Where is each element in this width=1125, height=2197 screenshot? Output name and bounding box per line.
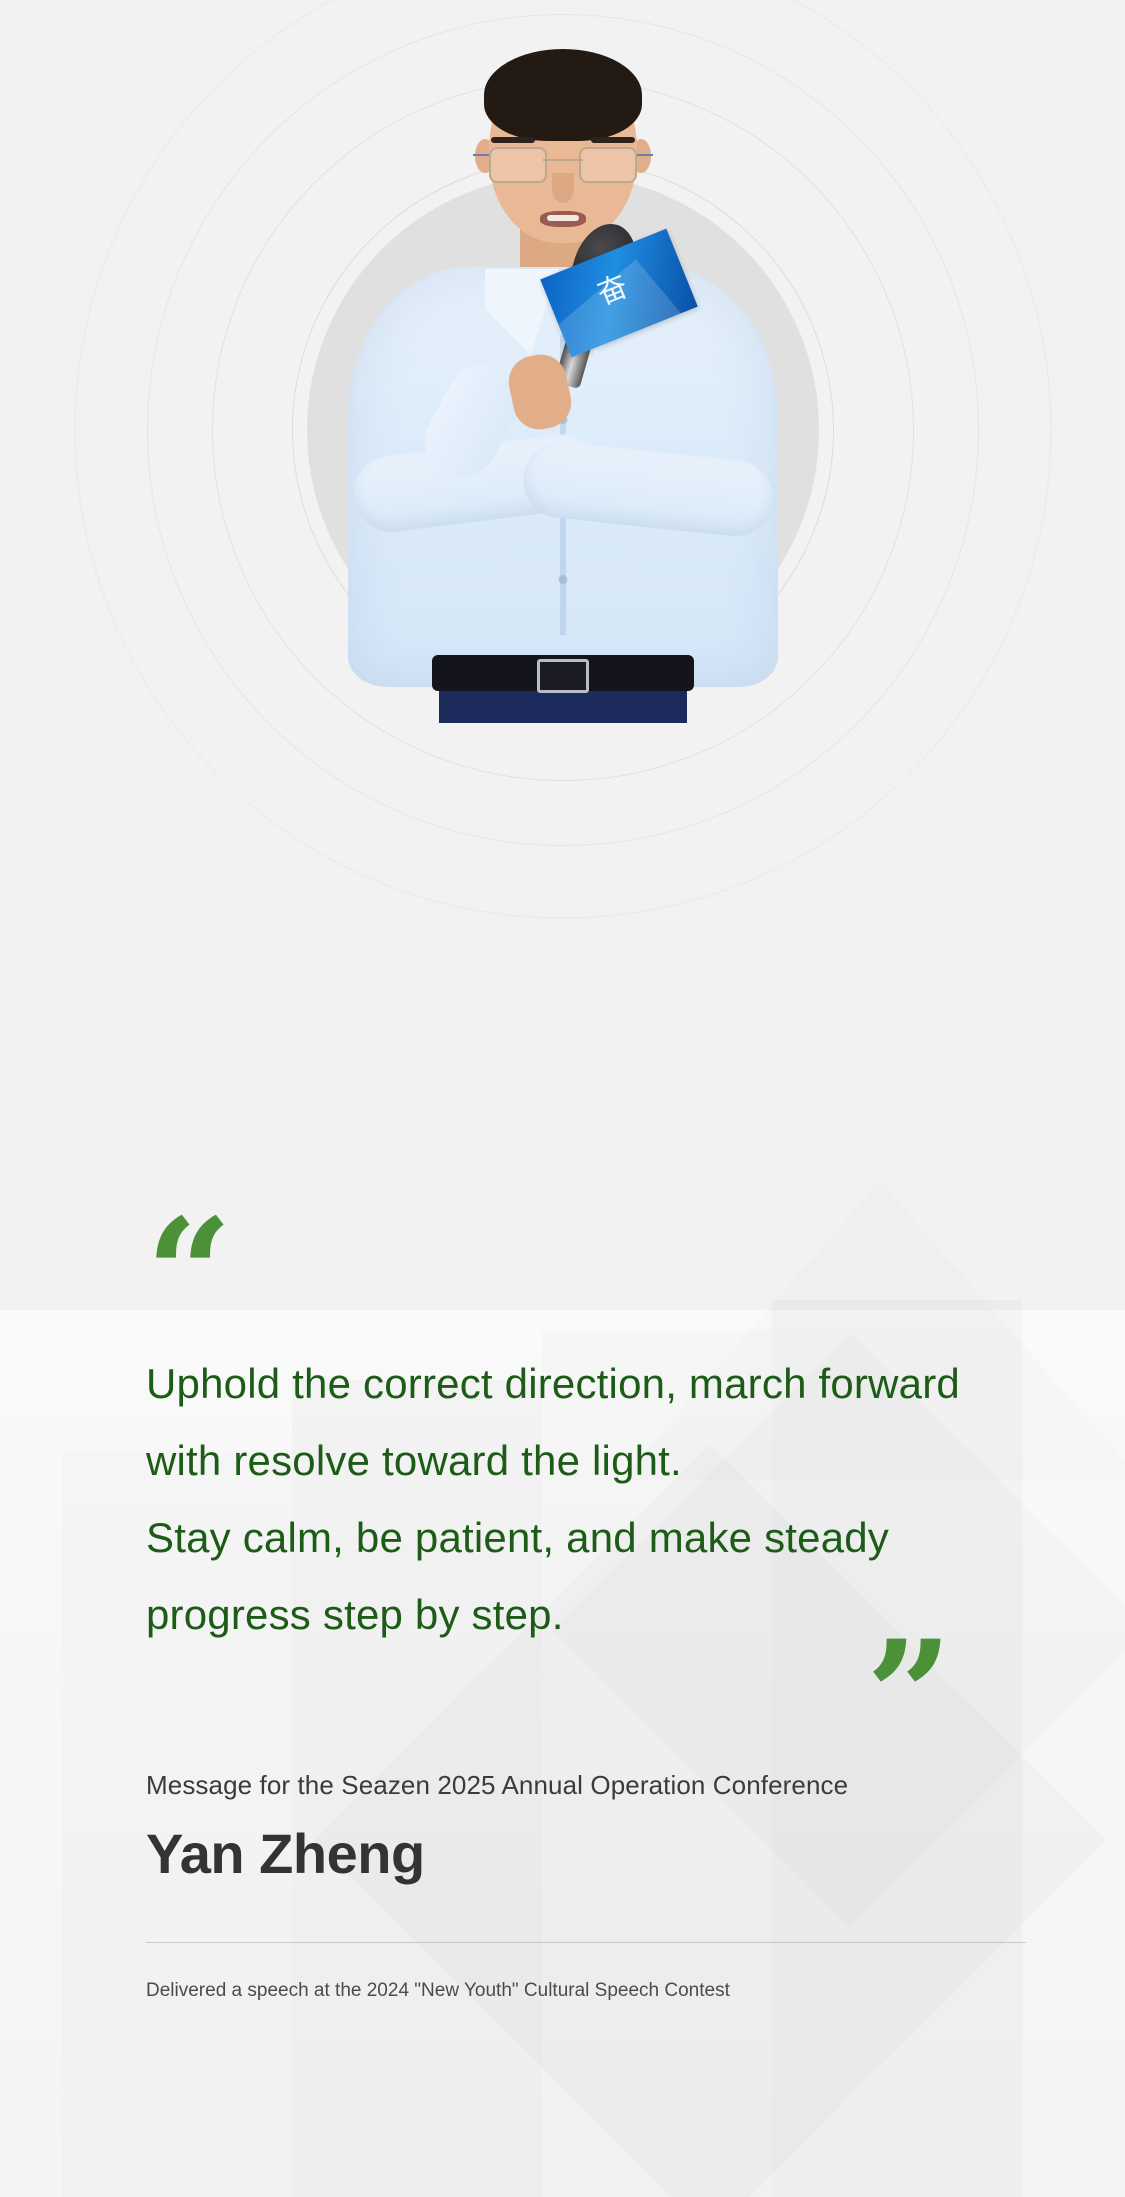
hair: [484, 49, 642, 141]
mouth: [540, 211, 586, 227]
quote-line: Stay calm, be patient, and make steady: [146, 1499, 1006, 1576]
quote-text: Uphold the correct direction, march forw…: [146, 1345, 1006, 1653]
attribution-role: Message for the Seazen 2025 Annual Opera…: [146, 1768, 1036, 1802]
portrait-person: 奋: [348, 55, 778, 695]
poster-page: 奋 “ Uphold the correct direction, march …: [0, 0, 1125, 2197]
glasses-temple-right: [637, 154, 653, 156]
attribution-name: Yan Zheng: [146, 1816, 1036, 1892]
quote-close-mark: ”: [866, 1642, 948, 1750]
footer-caption: Delivered a speech at the 2024 "New Yout…: [146, 1978, 1026, 2004]
shirt-button: [558, 575, 567, 584]
attribution-block: Message for the Seazen 2025 Annual Opera…: [146, 1768, 1036, 1892]
quote-line: with resolve toward the light.: [146, 1422, 1006, 1499]
quote-line: Uphold the correct direction, march forw…: [146, 1345, 1006, 1422]
hero-portrait-area: 奋: [0, 0, 1125, 1180]
glasses-temple-left: [473, 154, 489, 156]
eyebrow-right: [591, 137, 635, 143]
eyebrow-left: [491, 137, 535, 143]
divider: [146, 1942, 1026, 1943]
glasses-icon: [487, 147, 639, 179]
lens-right: [579, 147, 637, 183]
quote-open-mark: “: [146, 1220, 228, 1328]
belt-buckle: [537, 659, 589, 693]
microphone-flag-glyph: 奋: [588, 264, 636, 318]
lens-left: [489, 147, 547, 183]
glasses-bridge: [543, 159, 583, 161]
